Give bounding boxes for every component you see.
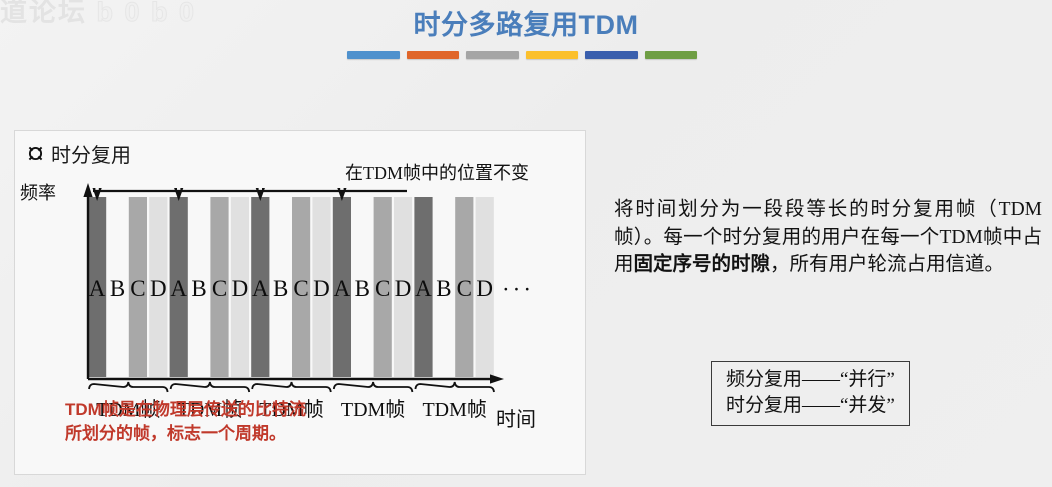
x-axis-label: 时间 [496, 403, 536, 432]
slot-bar-d [394, 197, 412, 377]
page-title: 时分多路复用TDM [0, 3, 1052, 42]
slot-bar-c [455, 197, 473, 377]
comparison-line-tdm: 时分复用——“并发” [726, 393, 895, 419]
accent-bar-dark-blue [585, 51, 638, 59]
slot-bar-a [414, 197, 432, 377]
slot-bar-c [210, 197, 228, 377]
slot-bar-d [476, 197, 494, 377]
slot-bar-d [149, 197, 167, 377]
frame-brace [252, 382, 331, 392]
slot-bar-group [88, 197, 494, 377]
frame-brace-group [89, 382, 494, 392]
slot-bar-a [170, 197, 188, 377]
frame-label: TDM帧 [407, 393, 502, 422]
accent-bar-blue [347, 51, 400, 59]
accent-bar-gray [466, 51, 519, 59]
comparison-line-fdm: 频分复用——“并行” [726, 367, 895, 393]
frame-label: TDM帧 [326, 393, 421, 422]
accent-bar-green [645, 51, 698, 59]
slot-bar-d [231, 197, 249, 377]
accent-bar-yellow [526, 51, 579, 59]
slot-bar-c [292, 197, 310, 377]
slot-bar-c [129, 197, 147, 377]
frame-brace [415, 382, 494, 392]
slot-bar-a [333, 197, 351, 377]
frame-brace [334, 382, 413, 392]
body-part-2: ，所有用户轮流占用信道。 [770, 254, 1004, 275]
slot-bar-a [88, 197, 106, 377]
body-emphasis: 固定序号的时隙 [634, 254, 771, 275]
slot-bar-d [312, 197, 330, 377]
frame-brace [89, 382, 168, 392]
slot-bar-c [374, 197, 392, 377]
frame-brace [171, 382, 250, 392]
accent-bar-row [347, 51, 697, 59]
slot-bar-a [251, 197, 269, 377]
body-paragraph: 将时间划分为一段段等长的时分复用帧（TDM帧）。每一个时分复用的用户在每一个TD… [614, 196, 1042, 279]
red-note-text: TDM帧是在物理层传送的比特流所划分的帧，标志一个周期。 [65, 398, 315, 446]
comparison-box: 频分复用——“并行” 时分复用——“并发” [711, 361, 910, 426]
accent-bar-orange [407, 51, 460, 59]
